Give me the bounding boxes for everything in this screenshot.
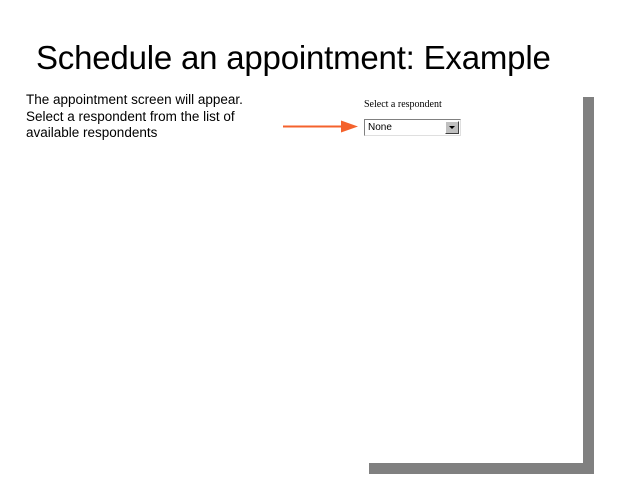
respondent-dropdown[interactable]: None (364, 119, 461, 136)
page-title: Schedule an appointment: Example (36, 38, 616, 78)
select-a-respondent-label: Select a respondent (364, 99, 442, 110)
body-paragraph: The appointment screen will appear. Sele… (26, 92, 258, 142)
arrow-right-icon (283, 119, 363, 134)
respondent-dropdown-value: None (365, 120, 445, 135)
slide-canvas: Schedule an appointment: Example The app… (0, 0, 640, 480)
chevron-down-glyph (449, 126, 455, 129)
embedded-screenshot-pane: Select a respondent None (358, 86, 583, 463)
chevron-down-icon[interactable] (445, 121, 459, 134)
